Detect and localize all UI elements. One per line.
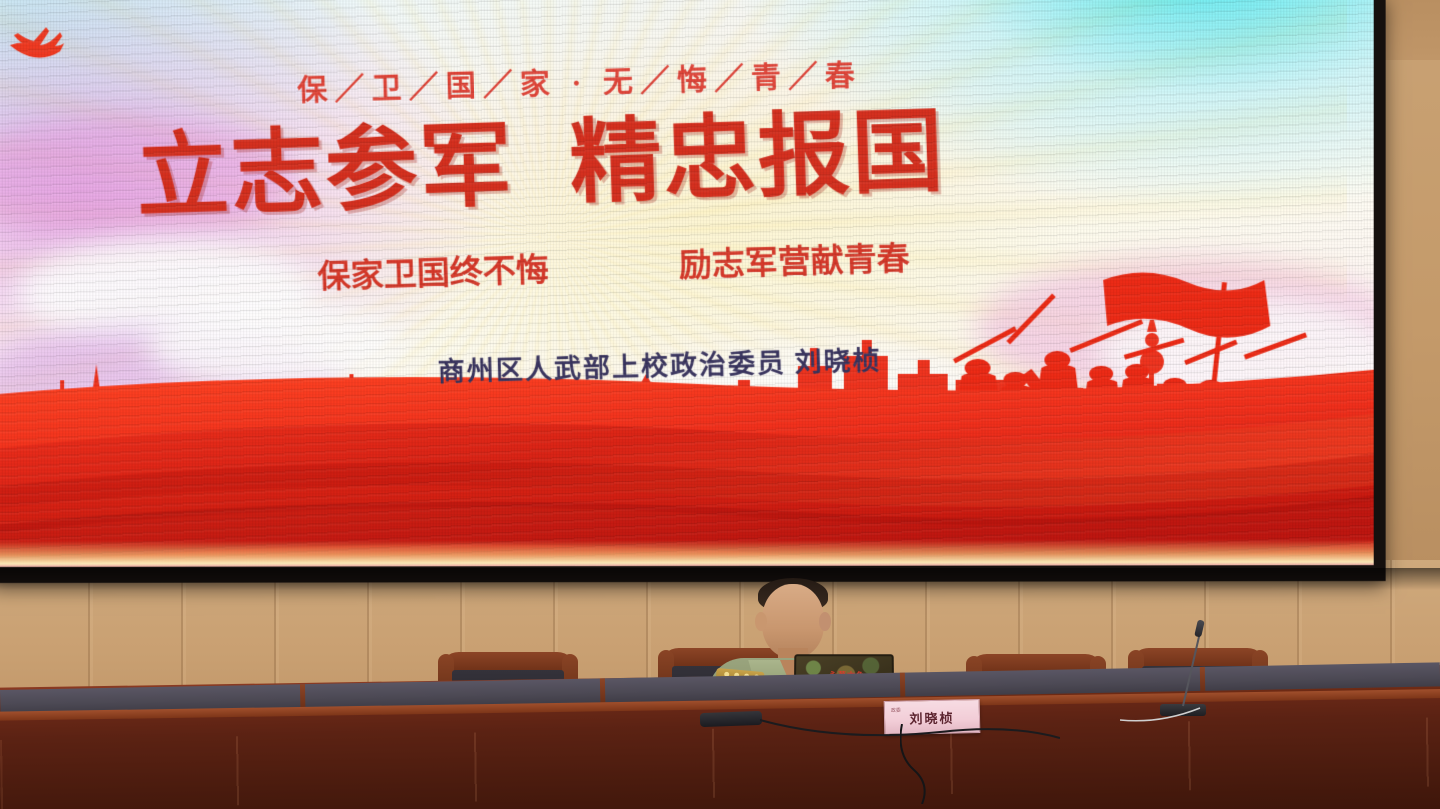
led-text-block: 保／卫／国／家 · 无／悔／青／春 立志参军精忠报国 保家卫国终不悔 励志军营献… — [0, 0, 1374, 567]
headline-text: 立志参军精忠报国 — [135, 92, 1238, 227]
subtitle-row: 保家卫国终不悔 励志军营献青春 — [317, 222, 1217, 298]
subtitle-right: 励志军营献青春 — [678, 231, 910, 286]
subtitle-left: 保家卫国终不悔 — [317, 243, 550, 298]
nameplate-title: 政委 — [891, 707, 901, 714]
nameplate-name: 刘晓桢 — [909, 707, 954, 727]
ear — [819, 612, 831, 631]
microphone-stem — [1182, 630, 1201, 706]
led-screen-frame: 保／卫／国／家 · 无／悔／青／春 立志参军精忠报国 保家卫国终不悔 励志军营献… — [0, 0, 1386, 583]
desk-microphone-base[interactable] — [700, 704, 770, 726]
headline-right: 精忠报国 — [568, 97, 947, 216]
ear — [755, 612, 767, 631]
head — [762, 584, 824, 658]
microphone-capsule — [1194, 619, 1205, 637]
headline-left: 立志参军 — [135, 111, 516, 230]
speaker-credit-text: 商州区人武部上校政治委员 刘晓桢 — [437, 332, 1137, 390]
screenshot-root: 保／卫／国／家 · 无／悔／青／春 立志参军精忠报国 保家卫国终不悔 励志军营献… — [0, 0, 1440, 809]
led-screen-surface: 保／卫／国／家 · 无／悔／青／春 立志参军精忠报国 保家卫国终不悔 励志军营献… — [0, 0, 1374, 567]
microphone-base — [700, 711, 762, 727]
gooseneck-microphone[interactable] — [1160, 620, 1220, 716]
nameplate: 政委 刘晓桢 — [884, 699, 981, 735]
